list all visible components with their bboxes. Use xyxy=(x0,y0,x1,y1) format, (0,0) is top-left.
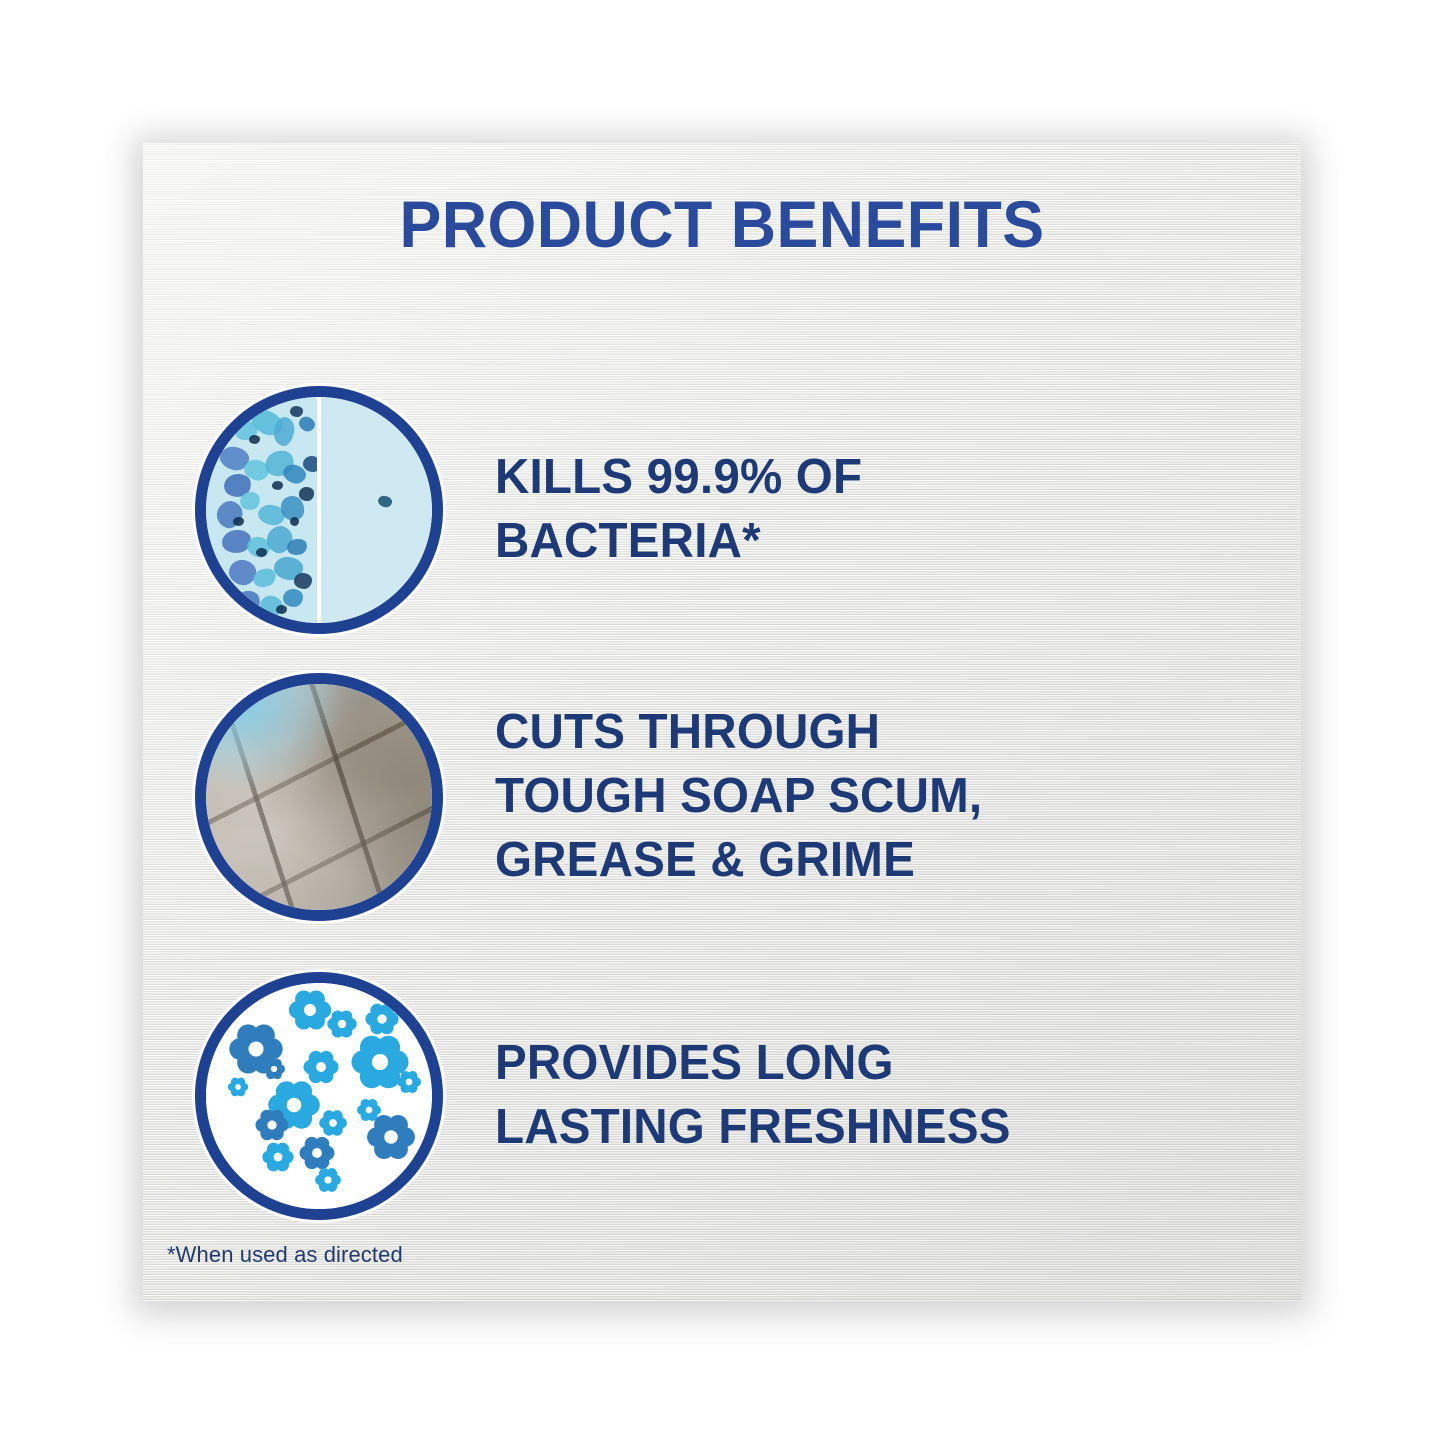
footnote-disclaimer: *When used as directed xyxy=(167,1242,403,1268)
benefits-list: KILLS 99.9% OF BACTERIA* CUTS T xyxy=(143,143,1301,1301)
flower-plate xyxy=(206,983,432,1209)
benefit-text-freshness: PROVIDES LONG LASTING FRESHNESS xyxy=(495,1032,1011,1159)
bacteria-speck xyxy=(249,435,260,444)
bacteria-clean-half xyxy=(319,397,432,623)
flower-icon xyxy=(261,1140,295,1174)
benefit-text-bacteria: KILLS 99.9% OF BACTERIA* xyxy=(495,446,862,573)
bacteria-speck xyxy=(233,588,263,617)
bacteria-speck xyxy=(294,573,312,589)
benefit-line: TOUGH SOAP SCUM, xyxy=(495,765,982,829)
benefits-panel: PRODUCT BENEFITS KILLS 99.9% OF BACTERIA… xyxy=(143,143,1301,1301)
benefit-line: GREASE & GRIME xyxy=(495,829,982,893)
benefit-line: PROVIDES LONG xyxy=(495,1032,1011,1096)
bacteria-speck xyxy=(377,495,393,509)
bacteria-speck xyxy=(272,481,283,490)
product-benefits-infographic: PRODUCT BENEFITS KILLS 99.9% OF BACTERIA… xyxy=(0,0,1445,1445)
tile-floor-photo xyxy=(206,684,432,910)
benefit-line: CUTS THROUGH xyxy=(495,701,982,765)
bacteria-speck xyxy=(256,548,267,557)
benefit-line: KILLS 99.9% OF xyxy=(495,446,862,510)
bacteria-speck xyxy=(286,537,309,557)
flower-icon xyxy=(314,1166,342,1194)
bacteria-speck xyxy=(290,406,304,417)
benefit-line: BACTERIA* xyxy=(495,510,862,574)
tile-floor-icon xyxy=(195,673,443,921)
flower-icon xyxy=(396,1069,422,1095)
bacteria-before-after-icon xyxy=(195,386,443,634)
bacteria-speck xyxy=(233,517,244,526)
bacteria-speck xyxy=(299,487,315,501)
benefit-row-soap-scum: CUTS THROUGH TOUGH SOAP SCUM, GREASE & G… xyxy=(195,673,1245,921)
flower-icon xyxy=(227,1076,249,1098)
bacteria-speck xyxy=(296,414,316,434)
before-after-divider xyxy=(317,397,321,623)
tile-wet-reflection xyxy=(206,684,342,788)
flower-icon xyxy=(365,1111,417,1163)
flower-field xyxy=(206,983,432,1209)
benefit-line: LASTING FRESHNESS xyxy=(495,1096,1011,1160)
fresh-flowers-icon xyxy=(195,972,443,1220)
benefit-row-bacteria: KILLS 99.9% OF BACTERIA* xyxy=(195,386,1245,634)
bacteria-dirty-half xyxy=(206,397,319,623)
bacteria-plate xyxy=(206,397,432,623)
bacteria-speck xyxy=(290,517,299,526)
bacteria-speck xyxy=(276,605,287,614)
benefit-text-soap-scum: CUTS THROUGH TOUGH SOAP SCUM, GREASE & G… xyxy=(495,701,982,892)
flower-icon xyxy=(254,1107,290,1143)
benefit-row-freshness: PROVIDES LONG LASTING FRESHNESS xyxy=(195,972,1245,1220)
